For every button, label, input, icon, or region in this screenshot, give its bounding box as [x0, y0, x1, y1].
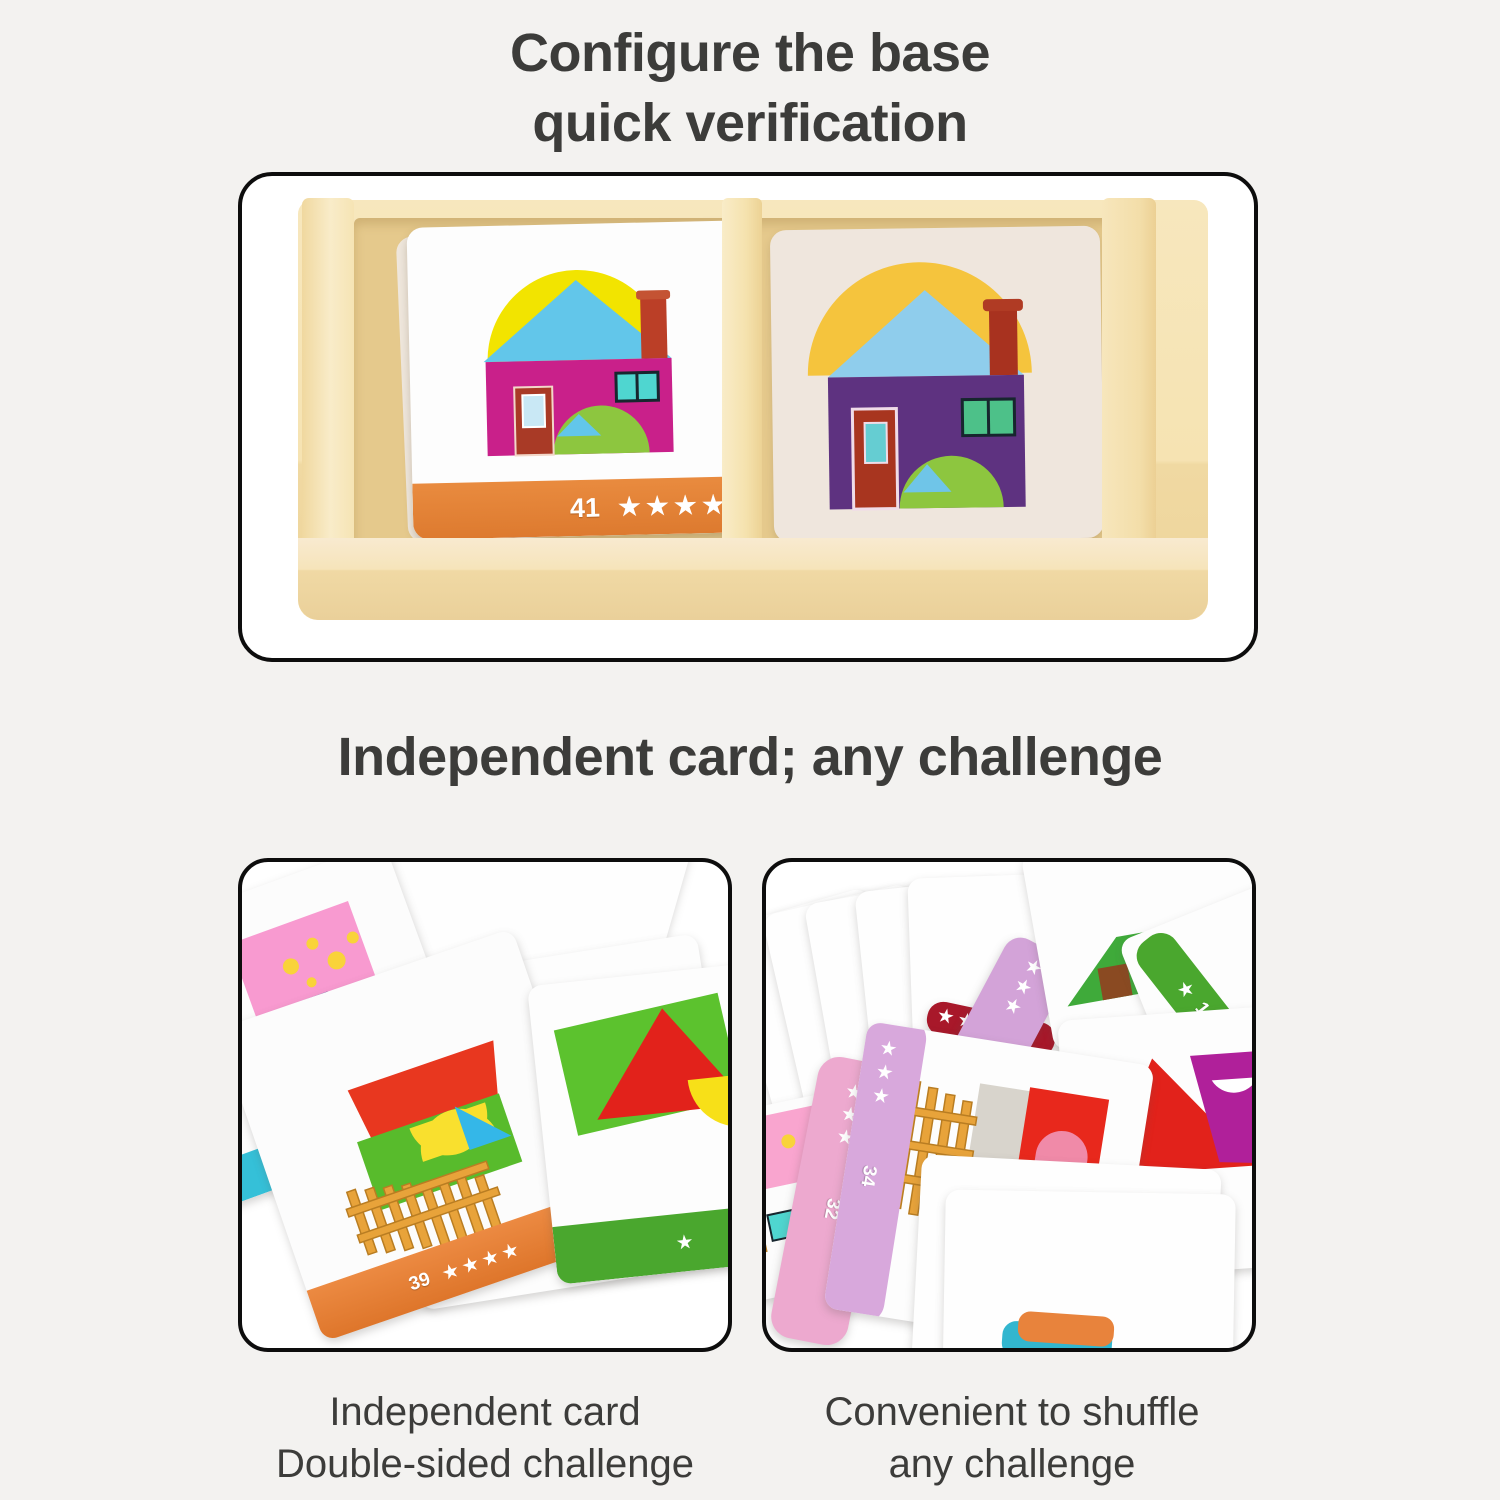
puzzle-card-green[interactable] — [527, 959, 728, 1285]
star-icon — [876, 1063, 894, 1081]
tray-right-wall — [1102, 198, 1156, 550]
caption-shuffle: Convenient to shuffle any challenge — [752, 1386, 1272, 1490]
photo-panel-tray: 41 — [238, 172, 1258, 662]
caption-independent-card: Independent card Double-sided challenge — [225, 1386, 745, 1490]
caption-left-line2: Double-sided challenge — [225, 1438, 745, 1490]
tray-left-wall — [302, 198, 354, 550]
tray-scene: 41 — [242, 176, 1254, 658]
assembled-puzzle-illustration — [788, 240, 1088, 530]
card-34-number: 34 — [856, 1164, 881, 1188]
star-icon — [936, 1007, 955, 1026]
star-icon — [872, 1087, 890, 1105]
star-icon — [480, 1248, 500, 1268]
star-icon — [1012, 976, 1034, 998]
card-41-footer-band: 41 — [412, 476, 751, 540]
card-39-number: 39 — [406, 1269, 433, 1297]
star-icon — [460, 1255, 480, 1275]
independent-cards-scene: 19 39 — [242, 862, 728, 1348]
card-41-number: 41 — [570, 492, 601, 524]
card-41-illustration — [463, 243, 704, 466]
star-icon — [676, 1234, 694, 1252]
tray-front-rim — [298, 538, 1208, 620]
star-icon — [674, 494, 698, 518]
star-icon — [618, 495, 642, 519]
page-title: Configure the base quick verification — [0, 18, 1500, 158]
card-39-stars — [440, 1241, 520, 1282]
section-title-independent-card: Independent card; any challenge — [0, 726, 1500, 788]
star-icon — [1002, 995, 1024, 1017]
caption-left-line1: Independent card — [225, 1386, 745, 1438]
star-icon — [879, 1039, 897, 1057]
card-41-stars — [618, 493, 725, 518]
star-icon — [440, 1262, 460, 1282]
star-icon — [646, 494, 670, 518]
photo-panel-shuffle-cards: 28 1 — [762, 858, 1256, 1352]
star-icon — [500, 1241, 520, 1261]
tray-divider-post — [722, 198, 762, 546]
page-title-line2: quick verification — [0, 88, 1500, 158]
shuffle-cards-scene: 28 1 — [766, 862, 1252, 1348]
star-icon — [1175, 978, 1197, 1000]
caption-right-line2: any challenge — [752, 1438, 1272, 1490]
assembled-puzzle-board[interactable] — [770, 226, 1104, 543]
puzzle-card-41[interactable]: 41 — [407, 220, 752, 540]
photo-panel-independent-cards: 19 39 — [238, 858, 732, 1352]
page-title-line1: Configure the base — [0, 18, 1500, 88]
caption-right-line1: Convenient to shuffle — [752, 1386, 1272, 1438]
